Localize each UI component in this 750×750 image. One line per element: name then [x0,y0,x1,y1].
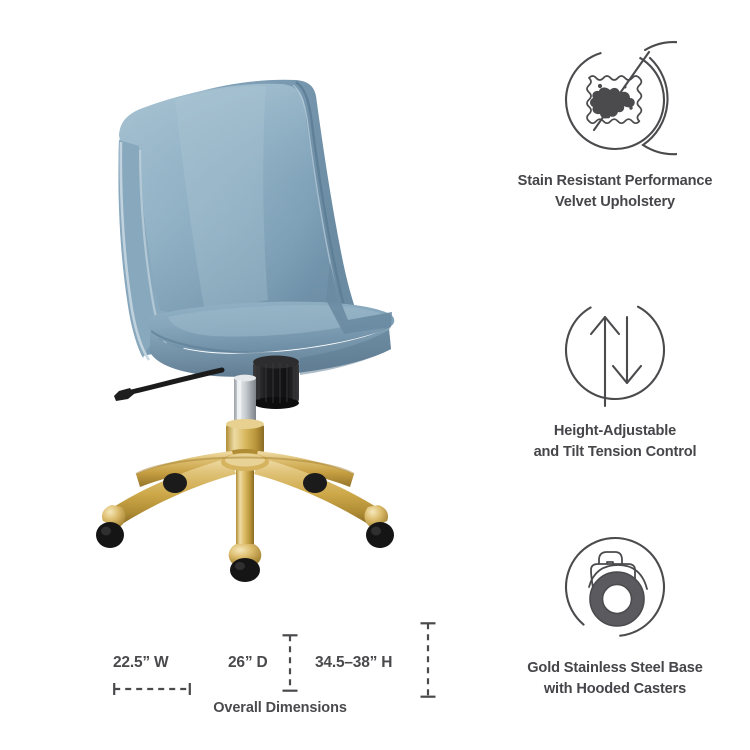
dimension-label-depth: 26” D [228,654,268,672]
overall-dimensions-section: 22.5” W 26” D 34.5–38” H Overal [95,628,465,732]
feature-caption-line: Gold Stainless Steel Base [480,658,750,679]
product-photo [0,0,480,640]
caster-front-left [96,505,125,548]
feature-caption-line: Height-Adjustable [480,421,750,442]
stain-resistant-icon [553,38,677,162]
feature-caption-gold-base: Gold Stainless Steel Base with Hooded Ca… [480,658,750,699]
up-down-arrows-icon [553,288,677,412]
feature-stain-resistant: Stain Resistant Performance Velvet Uphol… [480,38,750,212]
caster-front-right [365,505,394,548]
feature-list: Stain Resistant Performance Velvet Uphol… [480,0,750,750]
overall-dimensions-title: Overall Dimensions [95,700,465,716]
tilt-lever [126,370,222,393]
office-chair-illustration [0,0,480,640]
dimension-marker-depth-icon [281,634,299,692]
tilt-lever-handle [114,388,134,401]
dimension-marker-width-icon [113,682,191,696]
dimension-label-width: 22.5” W [113,654,168,672]
caster-rear-left [163,473,187,493]
gold-five-star-base [112,451,378,548]
dimension-markers-row: 22.5” W 26” D 34.5–38” H [95,628,465,698]
feature-caption-line: and Tilt Tension Control [480,442,750,463]
dimension-marker-height-icon [419,622,437,698]
feature-height-adjustable: Height-Adjustable and Tilt Tension Contr… [480,288,750,462]
feature-gold-base: Gold Stainless Steel Base with Hooded Ca… [480,525,750,699]
caster-front-center [229,544,262,582]
feature-caption-height-adjustable: Height-Adjustable and Tilt Tension Contr… [480,421,750,462]
caster-rear-right [303,473,327,493]
tension-knob [253,356,299,410]
feature-caption-line: with Hooded Casters [480,679,750,700]
feature-caption-stain-resistant: Stain Resistant Performance Velvet Uphol… [480,171,750,212]
hooded-caster-icon [553,525,677,649]
dimension-label-height: 34.5–38” H [315,654,392,672]
feature-caption-line: Stain Resistant Performance [480,171,750,192]
base-arm-front-center [236,462,254,548]
feature-caption-line: Velvet Upholstery [480,192,750,213]
